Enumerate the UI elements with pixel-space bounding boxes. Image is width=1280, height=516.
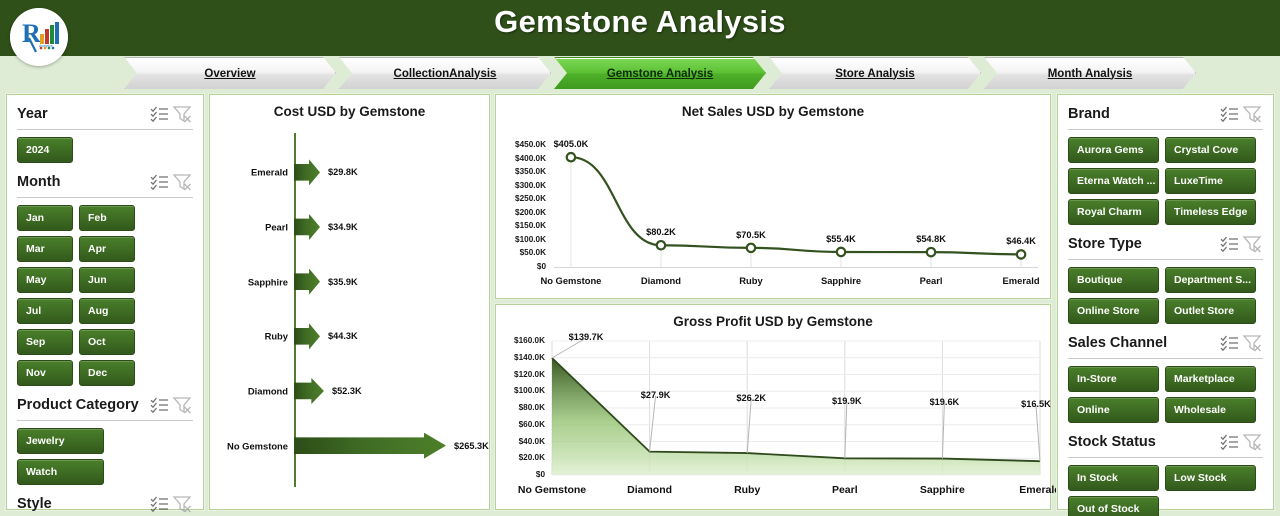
multi-select-icon[interactable] xyxy=(1219,235,1241,253)
gross-profit-value-label: $27.9K xyxy=(628,390,684,400)
slicer-option[interactable]: May xyxy=(17,267,73,293)
cost-category-label: Pearl xyxy=(210,221,288,232)
net-sales-chart-plot[interactable]: $450.0K$400.0K$350.0K$300.0K$250.0K$200.… xyxy=(496,119,1050,299)
net-sales-category-label: Ruby xyxy=(705,275,797,286)
slicer-option[interactable]: Out of Stock xyxy=(1068,496,1159,516)
slicer-option[interactable]: Royal Charm xyxy=(1068,199,1159,225)
clear-filter-icon[interactable] xyxy=(171,173,193,191)
slicer-option[interactable]: Eterna Watch ... xyxy=(1068,168,1159,194)
multi-select-icon[interactable] xyxy=(149,105,171,123)
gross-profit-category-label: Diamond xyxy=(600,484,700,496)
slicer-option[interactable]: Crystal Cove xyxy=(1165,137,1256,163)
slicer-option[interactable]: Aurora Gems xyxy=(1068,137,1159,163)
svg-text:Analytics: Analytics xyxy=(39,44,53,48)
left-filter-panel: Year2024MonthJanFebMarAprMayJunJulAugSep… xyxy=(6,94,204,510)
tab-label: Gemstone Analysis xyxy=(607,68,713,80)
slicer-option[interactable]: Watch xyxy=(17,459,104,485)
cost-category-label: Diamond xyxy=(210,385,288,396)
tab-collectionanalysis[interactable]: CollectionAnalysis xyxy=(339,57,551,89)
slicer-option[interactable]: LuxeTime xyxy=(1165,168,1256,194)
slicer-option[interactable]: Online xyxy=(1068,397,1159,423)
slicer-option[interactable]: Feb xyxy=(79,205,135,231)
slicer-header: Brand xyxy=(1068,101,1263,127)
multi-select-button[interactable] xyxy=(1219,334,1241,352)
multi-select-button[interactable] xyxy=(149,396,171,414)
slicer-divider xyxy=(1068,358,1263,359)
multi-select-icon[interactable] xyxy=(1219,105,1241,123)
clear-filter-icon[interactable] xyxy=(1241,105,1263,123)
gross-profit-value-label: $19.6K xyxy=(916,397,972,407)
gross-profit-chart-title: Gross Profit USD by Gemstone xyxy=(496,305,1050,329)
cost-chart-title: Cost USD by Gemstone xyxy=(210,95,489,119)
gross-profit-value-label: $16.5K xyxy=(1008,399,1064,409)
cost-bar[interactable] xyxy=(294,433,446,459)
slicer-option[interactable]: Boutique xyxy=(1068,267,1159,293)
clear-filter-button[interactable] xyxy=(171,173,193,191)
slicer-divider xyxy=(1068,259,1263,260)
net-sales-value-label: $80.2K xyxy=(633,227,689,237)
tab-month-analysis[interactable]: Month Analysis xyxy=(984,57,1196,89)
gross-profit-category-label: Sapphire xyxy=(892,484,992,496)
slicer-options: JewelryWatch xyxy=(17,428,193,485)
slicer-year: Year2024 xyxy=(7,101,203,163)
cost-bar[interactable] xyxy=(294,214,320,240)
right-filter-panel: BrandAurora GemsCrystal CoveEterna Watch… xyxy=(1057,94,1274,510)
multi-select-icon[interactable] xyxy=(149,173,171,191)
slicer-option[interactable]: Apr xyxy=(79,236,135,262)
clear-filter-button[interactable] xyxy=(1241,235,1263,253)
gross-profit-category-label: Pearl xyxy=(795,484,895,496)
app-header: R Analytics Gemstone Analysis xyxy=(0,0,1280,56)
cost-value-label: $265.3K xyxy=(454,441,489,451)
slicer-header: Sales Channel xyxy=(1068,330,1263,356)
slicer-option[interactable]: Wholesale xyxy=(1165,397,1256,423)
multi-select-icon[interactable] xyxy=(149,396,171,414)
multi-select-button[interactable] xyxy=(149,173,171,191)
slicer-option[interactable]: Jul xyxy=(17,298,73,324)
cost-chart-row[interactable]: Ruby$44.3K xyxy=(210,309,491,364)
slicer-header: Month xyxy=(17,169,193,195)
cost-category-label: No Gemstone xyxy=(210,440,288,451)
cost-chart-row[interactable]: Pearl$34.9K xyxy=(210,200,491,255)
net-sales-category-label: Emerald xyxy=(975,275,1067,286)
net-sales-value-label: $405.0K xyxy=(543,139,599,149)
clear-filter-button[interactable] xyxy=(1241,433,1263,451)
gross-profit-series xyxy=(496,329,1050,509)
net-sales-category-label: Pearl xyxy=(885,275,977,286)
cost-bar[interactable] xyxy=(294,378,324,404)
slicer-option[interactable]: Nov xyxy=(17,360,73,386)
cost-chart-row[interactable]: Diamond$52.3K xyxy=(210,364,491,419)
clear-filter-button[interactable] xyxy=(1241,105,1263,123)
cost-category-label: Emerald xyxy=(210,167,288,178)
slicer-option[interactable]: Jun xyxy=(79,267,135,293)
multi-select-button[interactable] xyxy=(1219,105,1241,123)
slicer-style: StyleBridalCasualClassicLuxurySport xyxy=(7,491,203,516)
multi-select-icon[interactable] xyxy=(1219,334,1241,352)
slicer-sales-channel: Sales ChannelIn-StoreMarketplaceOnlineWh… xyxy=(1058,330,1273,423)
slicer-option[interactable]: 2024 xyxy=(17,137,73,163)
tab-label: CollectionAnalysis xyxy=(394,68,497,80)
slicer-divider xyxy=(17,197,193,198)
slicer-title: Month xyxy=(17,174,149,190)
clear-filter-button[interactable] xyxy=(171,105,193,123)
slicer-option[interactable]: Jewelry xyxy=(17,428,104,454)
multi-select-button[interactable] xyxy=(1219,433,1241,451)
slicer-option[interactable]: Mar xyxy=(17,236,73,262)
slicer-option[interactable]: Aug xyxy=(79,298,135,324)
gross-profit-value-label: $26.2K xyxy=(723,393,779,403)
clear-filter-icon[interactable] xyxy=(1241,334,1263,352)
slicer-header: Style xyxy=(17,491,193,516)
multi-select-button[interactable] xyxy=(149,105,171,123)
tab-label: Overview xyxy=(204,68,255,80)
cost-chart-row[interactable]: No Gemstone$265.3K xyxy=(210,418,491,473)
slicer-option[interactable]: Dec xyxy=(79,360,135,386)
slicer-stock-status: Stock StatusIn StockLow StockOut of Stoc… xyxy=(1058,429,1273,516)
slicer-title: Product Category xyxy=(17,397,149,413)
slicer-product-category: Product CategoryJewelryWatch xyxy=(7,392,203,485)
net-sales-category-label: No Gemstone xyxy=(525,275,617,286)
tab-gemstone-analysis[interactable]: Gemstone Analysis xyxy=(554,57,766,89)
slicer-options: 2024 xyxy=(17,137,193,163)
slicer-header: Product Category xyxy=(17,392,193,418)
multi-select-button[interactable] xyxy=(1219,235,1241,253)
cost-chart-panel[interactable]: Cost USD by Gemstone Emerald$29.8KPearl$… xyxy=(209,94,490,510)
gross-profit-category-label: Ruby xyxy=(697,484,797,496)
cost-bar[interactable] xyxy=(294,159,320,185)
net-sales-chart-title: Net Sales USD by Gemstone xyxy=(496,95,1050,119)
slicer-title: Store Type xyxy=(1068,236,1219,252)
tab-store-analysis[interactable]: Store Analysis xyxy=(769,57,981,89)
cost-chart-plot[interactable]: Emerald$29.8KPearl$34.9KSapphire$35.9KRu… xyxy=(210,119,489,499)
slicer-option[interactable]: Jan xyxy=(17,205,73,231)
slicer-title: Sales Channel xyxy=(1068,335,1219,351)
slicer-option[interactable]: Online Store xyxy=(1068,298,1159,324)
slicer-options: JanFebMarAprMayJunJulAugSepOctNovDec xyxy=(17,205,193,386)
cost-chart-row[interactable]: Sapphire$35.9K xyxy=(210,254,491,309)
tab-label: Month Analysis xyxy=(1048,68,1133,80)
tab-label: Store Analysis xyxy=(835,68,914,80)
cost-value-label: $35.9K xyxy=(328,277,358,287)
slicer-options: Aurora GemsCrystal CoveEterna Watch ...L… xyxy=(1068,137,1263,225)
gross-profit-chart-plot[interactable]: $160.0K$140.0K$120.0K$100.0K$80.0K$60.0K… xyxy=(496,329,1050,509)
slicer-divider xyxy=(17,420,193,421)
slicer-options: BoutiqueDepartment S...Online StoreOutle… xyxy=(1068,267,1263,324)
net-sales-category-label: Diamond xyxy=(615,275,707,286)
slicer-title: Brand xyxy=(1068,106,1219,122)
tab-bar: OverviewCollectionAnalysisGemstone Analy… xyxy=(124,57,1196,89)
net-sales-category-label: Sapphire xyxy=(795,275,887,286)
gross-profit-value-label: $19.9K xyxy=(819,396,875,406)
cost-value-label: $34.9K xyxy=(328,222,358,232)
multi-select-button[interactable] xyxy=(149,495,171,513)
clear-filter-button[interactable] xyxy=(171,396,193,414)
slicer-brand: BrandAurora GemsCrystal CoveEterna Watch… xyxy=(1058,101,1273,225)
slicer-header: Year xyxy=(17,101,193,127)
cost-bar[interactable] xyxy=(294,269,320,295)
multi-select-icon[interactable] xyxy=(1219,433,1241,451)
cost-value-label: $44.3K xyxy=(328,331,358,341)
slicer-title: Stock Status xyxy=(1068,434,1219,450)
slicer-header: Store Type xyxy=(1068,231,1263,257)
slicer-divider xyxy=(1068,129,1263,130)
clear-filter-icon[interactable] xyxy=(171,105,193,123)
multi-select-icon[interactable] xyxy=(149,495,171,513)
clear-filter-button[interactable] xyxy=(1241,334,1263,352)
slicer-option[interactable]: Oct xyxy=(79,329,135,355)
slicer-option[interactable]: In Stock xyxy=(1068,465,1159,491)
slicer-option[interactable]: Low Stock xyxy=(1165,465,1256,491)
slicer-option[interactable]: Department S... xyxy=(1165,267,1256,293)
cost-chart-row[interactable]: Emerald$29.8K xyxy=(210,145,491,200)
slicer-option[interactable]: Marketplace xyxy=(1165,366,1256,392)
net-sales-value-label: $70.5K xyxy=(723,230,779,240)
net-sales-chart-panel[interactable]: Net Sales USD by Gemstone $450.0K$400.0K… xyxy=(495,94,1051,299)
cost-category-label: Ruby xyxy=(210,331,288,342)
slicer-title: Year xyxy=(17,106,149,122)
slicer-option[interactable]: Outlet Store xyxy=(1165,298,1256,324)
slicer-month: MonthJanFebMarAprMayJunJulAugSepOctNovDe… xyxy=(7,169,203,386)
slicer-options: In-StoreMarketplaceOnlineWholesale xyxy=(1068,366,1263,423)
gross-profit-value-label: $139.7K xyxy=(558,332,614,342)
slicer-options: In StockLow StockOut of Stock xyxy=(1068,465,1263,516)
cost-category-label: Sapphire xyxy=(210,276,288,287)
net-sales-value-label: $54.8K xyxy=(903,234,959,244)
dashboard-root: R Analytics Gemstone Analysis OverviewCo… xyxy=(0,0,1280,516)
slicer-divider xyxy=(1068,457,1263,458)
slicer-option[interactable]: Timeless Edge xyxy=(1165,199,1256,225)
clear-filter-icon[interactable] xyxy=(171,495,193,513)
net-sales-value-label: $55.4K xyxy=(813,234,869,244)
clear-filter-button[interactable] xyxy=(171,495,193,513)
slicer-divider xyxy=(17,129,193,130)
slicer-option[interactable]: In-Store xyxy=(1068,366,1159,392)
slicer-title: Style xyxy=(17,496,149,512)
gross-profit-chart-panel[interactable]: Gross Profit USD by Gemstone $160.0K$140… xyxy=(495,304,1051,510)
clear-filter-icon[interactable] xyxy=(1241,433,1263,451)
page-title: Gemstone Analysis xyxy=(0,4,1280,40)
clear-filter-icon[interactable] xyxy=(171,396,193,414)
gross-profit-category-label: No Gemstone xyxy=(502,484,602,496)
slicer-store-type: Store TypeBoutiqueDepartment S...Online … xyxy=(1058,231,1273,324)
slicer-option[interactable]: Sep xyxy=(17,329,73,355)
cost-value-label: $52.3K xyxy=(332,386,362,396)
cost-value-label: $29.8K xyxy=(328,167,358,177)
cost-bar[interactable] xyxy=(294,323,320,349)
clear-filter-icon[interactable] xyxy=(1241,235,1263,253)
slicer-header: Stock Status xyxy=(1068,429,1263,455)
tab-overview[interactable]: Overview xyxy=(124,57,336,89)
net-sales-value-label: $46.4K xyxy=(993,236,1049,246)
